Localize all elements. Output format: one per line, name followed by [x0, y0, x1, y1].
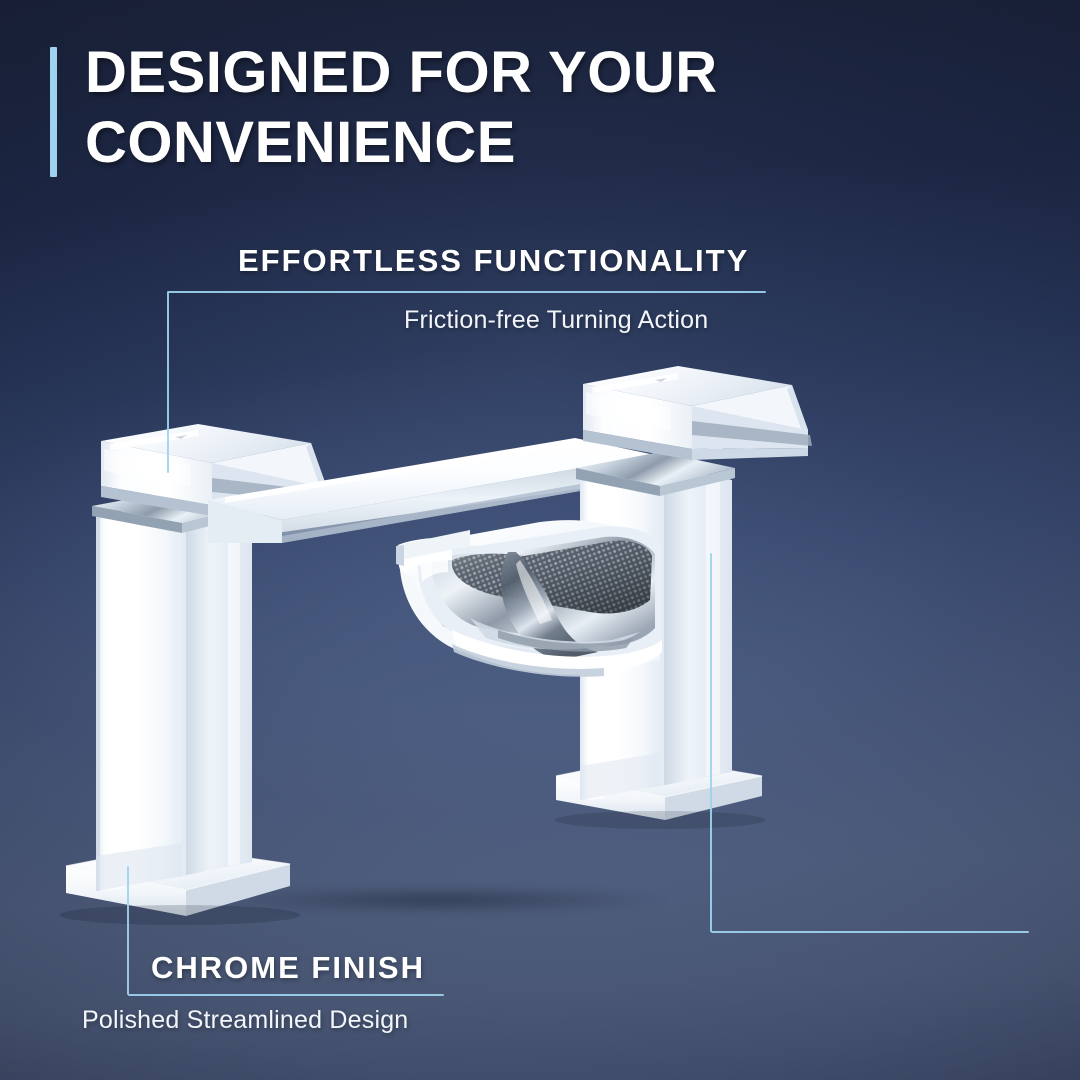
- left-pillar: [96, 500, 252, 891]
- callout-leader-line: [167, 291, 169, 473]
- callout-title: EFFORTLESS FUNCTIONALITY: [238, 243, 749, 279]
- callout-rule: [128, 994, 444, 996]
- callout-rule: [711, 931, 1029, 933]
- callout-rule: [168, 291, 766, 293]
- callout-leader-line: [127, 866, 129, 995]
- callout-title: CHROME FINISH: [151, 950, 425, 986]
- infographic-canvas: DESIGNED FOR YOUR CONVENIENCE: [0, 0, 1080, 1080]
- right-lever-handle: [583, 366, 812, 460]
- callout-subtitle: Friction-free Turning Action: [404, 306, 708, 335]
- product-image-waterfall-bath-filler-tap: [0, 0, 1080, 1080]
- callout-subtitle: Polished Streamlined Design: [82, 1006, 408, 1035]
- callout-leader-line: [710, 553, 712, 932]
